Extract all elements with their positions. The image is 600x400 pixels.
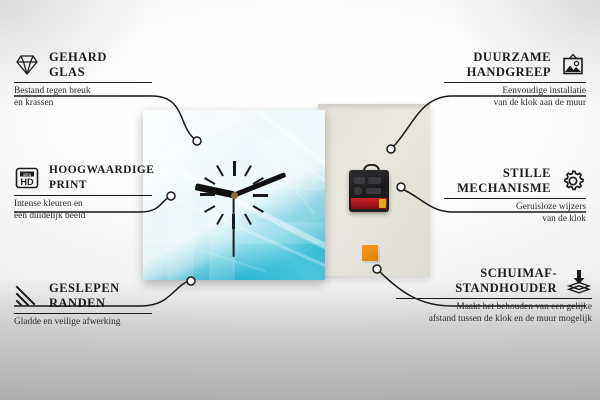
callout-schuimaf-standhouder[interactable]: SCHUIMAF-STANDHOUDER Maakt het behouden … <box>396 266 592 325</box>
callout-gehard-glas[interactable]: GEHARDGLAS Bestand tegen breuk en krasse… <box>14 50 152 109</box>
callout-rule <box>14 313 152 314</box>
mechanism-detail <box>366 188 381 194</box>
mechanism-detail <box>368 177 381 184</box>
callout-rule <box>14 195 152 196</box>
clock-glass-face <box>143 110 325 280</box>
callout-description: Eenvoudige installatie van de klok aan d… <box>444 86 586 109</box>
product-infographic: GEHARDGLAS Bestand tegen breuk en krasse… <box>0 0 600 400</box>
clock-center-hub <box>231 192 238 199</box>
callout-header: ultra HD HOOGWAARDIGEPRINT <box>14 163 152 192</box>
callout-description: Gladde en veilige afwerking <box>14 317 152 328</box>
ultra-hd-icon: ultra HD <box>14 165 40 191</box>
callout-description: Intense kleuren en een duidelijk beeld <box>14 199 152 222</box>
callout-description: Bestand tegen breuk en krassen <box>14 86 152 109</box>
battery-terminal <box>379 199 386 208</box>
callout-title: SCHUIMAF-STANDHOUDER <box>455 266 557 295</box>
callout-header: STILLEMECHANISME <box>444 166 586 195</box>
callout-description: Geruisloze wijzers van de klok <box>444 202 586 225</box>
callout-description: Maakt het behouden van een gelijke afsta… <box>396 302 592 325</box>
clock-back-panel-edge <box>318 104 430 110</box>
callout-title: DUURZAMEHANDGREEP <box>467 50 551 79</box>
callout-title: STILLEMECHANISME <box>457 166 551 195</box>
picture-frame-hanger-icon <box>560 52 586 78</box>
callout-title: GESLEPENRANDEN <box>49 281 120 310</box>
beveled-edges-icon <box>14 283 40 309</box>
callout-rule <box>444 82 586 83</box>
callout-rule <box>396 298 592 299</box>
clock-second-hand <box>233 195 235 257</box>
foam-spacer-arrow-icon <box>566 268 592 294</box>
callout-geslepen-randen[interactable]: GESLEPENRANDEN Gladde en veilige afwerki… <box>14 281 152 329</box>
clock-mechanism <box>349 170 389 212</box>
gear-icon <box>560 168 586 194</box>
callout-stille-mechanisme[interactable]: STILLEMECHANISME Geruisloze wijzers van … <box>444 166 586 225</box>
mechanism-detail <box>354 177 365 184</box>
callout-header: SCHUIMAF-STANDHOUDER <box>396 266 592 295</box>
callout-duurzame-handgreep[interactable]: DUURZAMEHANDGREEP Eenvoudige installatie… <box>444 50 586 109</box>
callout-rule <box>14 82 152 83</box>
callout-title: GEHARDGLAS <box>49 50 107 79</box>
diamond-icon <box>14 52 40 78</box>
mechanism-detail <box>354 187 362 195</box>
callout-header: GESLEPENRANDEN <box>14 281 152 310</box>
callout-rule <box>444 198 586 199</box>
mechanism-hanger-hook <box>363 164 380 174</box>
foam-spacer-pad <box>362 245 378 261</box>
callout-header: DUURZAMEHANDGREEP <box>444 50 586 79</box>
svg-text:HD: HD <box>20 177 34 187</box>
clock-battery <box>351 198 387 209</box>
callout-header: GEHARDGLAS <box>14 50 152 79</box>
callout-title: HOOGWAARDIGEPRINT <box>49 163 154 192</box>
callout-hoogwaardige-print[interactable]: ultra HD HOOGWAARDIGEPRINT Intense kleur… <box>14 163 152 222</box>
svg-text:ultra: ultra <box>23 171 32 176</box>
